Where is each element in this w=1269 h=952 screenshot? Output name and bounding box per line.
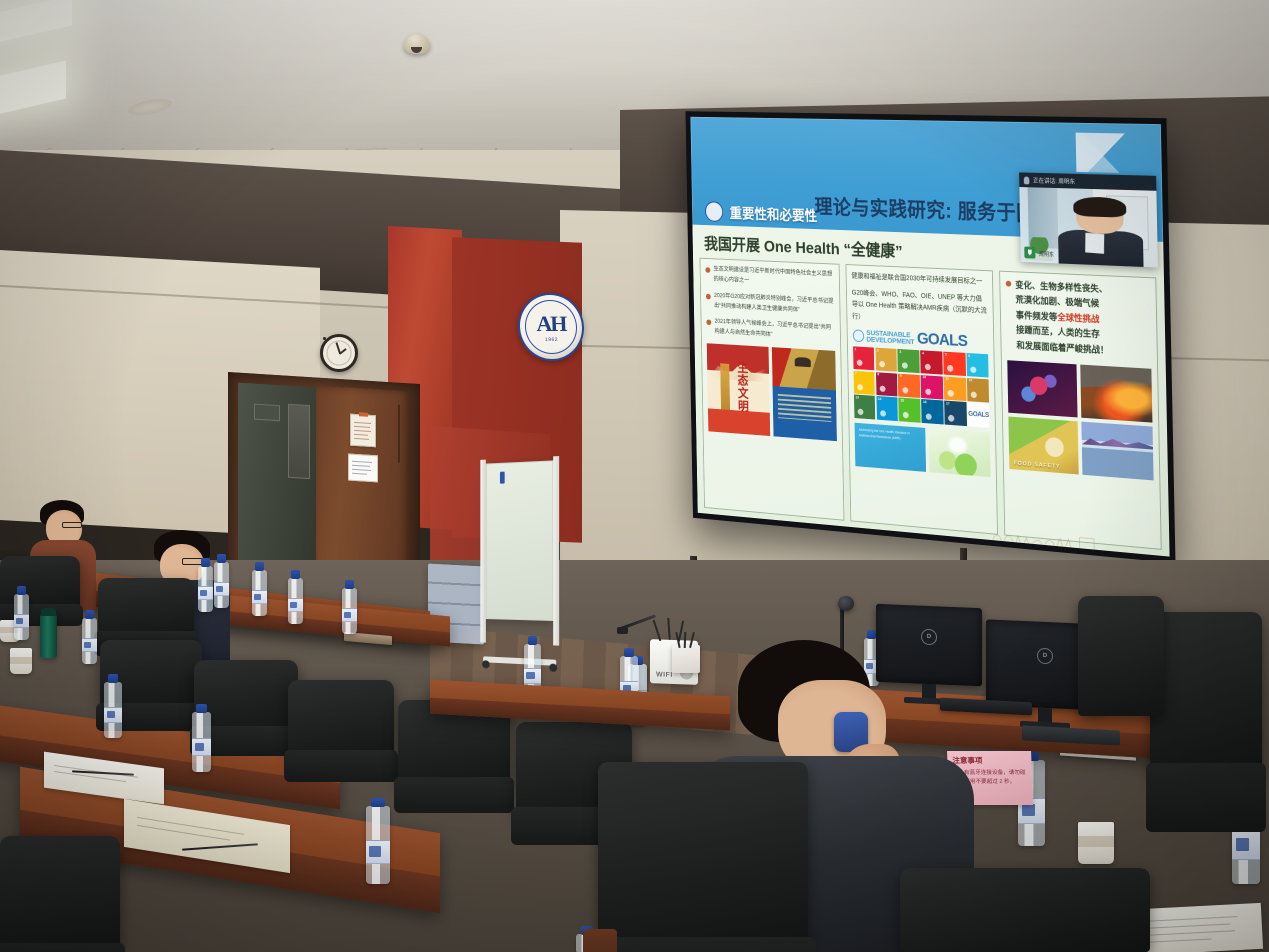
sdg-tile-number: 1 — [854, 347, 856, 351]
sdg-tile-10: 10 — [921, 375, 943, 400]
bullet-item: 生态文明建设是习近平新时代中国特色社会主义思想的核心内容之一 — [705, 264, 833, 290]
door-notice-white — [348, 454, 378, 483]
sdg-tile-1: 1 — [853, 346, 875, 370]
sdg-tile-8: 8 — [876, 372, 898, 397]
sdg-tile-number: 10 — [923, 376, 927, 380]
water-bottle — [366, 806, 390, 884]
document-sheet — [1139, 903, 1263, 952]
sdg-tile-number: 3 — [899, 350, 901, 354]
whiteboard-surface[interactable] — [486, 460, 553, 621]
bullet-item: 2021年领导人气候峰会上，习近平总书记提出“共同构建人与自然生命共同体” — [706, 317, 834, 344]
poster-caption-lines — [778, 394, 832, 426]
interior-sign — [254, 404, 280, 422]
sdg-tile-number: 12 — [969, 379, 973, 383]
sdg-tile-number: 7 — [855, 371, 857, 375]
sdg-tile-grid: 1234567891011121314151617GOALS — [853, 346, 990, 428]
slide-badge-icon — [705, 201, 723, 222]
bullet-text: 2021年领导人气候峰会上，习近平总书记提出“共同构建人与自然生命共同体” — [714, 317, 834, 344]
video-feed: 周明东 — [1019, 187, 1158, 268]
poster-photo — [772, 347, 836, 390]
chair[interactable] — [98, 578, 194, 636]
sdg-tile-7: 7 — [853, 370, 875, 394]
video-conference-overlay[interactable]: 周明东 正在讲话: 周明东 — [1019, 172, 1158, 267]
sdg-tile-11: 11 — [944, 376, 966, 401]
sdg-tile-number: 17 — [946, 402, 950, 406]
sdg-tile-9: 9 — [898, 373, 920, 398]
slide-corner-decoration — [1076, 133, 1147, 174]
door-notice-red — [350, 414, 376, 448]
poster-gold-band — [721, 364, 730, 411]
meeting-room-photo: AH 1962 — [0, 0, 1269, 952]
challenge-highlight: 全球性挑战 — [1057, 312, 1099, 324]
slide-subtitle: 我国开展 One Health “全健康” — [704, 230, 903, 261]
chair[interactable] — [288, 680, 394, 756]
video-mic-badge-icon — [1024, 246, 1035, 258]
amr-report-caption: Addressing the One Health Interface in A… — [859, 428, 922, 444]
clock-center-pin — [323, 337, 326, 340]
sdg-tile-6: 6 — [966, 353, 989, 378]
mobile-whiteboard[interactable] — [480, 460, 559, 660]
water-bottle — [198, 566, 213, 612]
whiteboard-wheel — [482, 660, 489, 668]
bullet-item: 变化、生物多样性丧失、 荒漠化加剧、极端气候 事件频发等全球性挑战 接踵而至，人… — [1006, 278, 1151, 361]
poster-eco-title: 生态文明 — [734, 361, 751, 414]
water-bottle — [104, 682, 122, 738]
sdg-tile-5: 5 — [943, 351, 965, 376]
sdg-tile-number: 16 — [923, 400, 927, 404]
sdg-logo-tile: GOALS — [967, 402, 990, 427]
sdg-paragraph: G20峰会、WHO、FAO、OIE、UNEP 等大力倡导以 One Health… — [852, 287, 988, 330]
sdg-tile-number: 2 — [877, 348, 879, 352]
wifi-label: WIFI — [656, 671, 673, 679]
sdg-mini-images: Addressing the One Health Interface in A… — [854, 423, 991, 477]
whiteboard-frame — [553, 456, 559, 646]
slide-chapter-label: 重要性和必要性 — [729, 202, 817, 224]
projection-screen[interactable]: 重要性和必要性 理论与实践研究: 服务于国 我国开展 One Health “全… — [685, 111, 1175, 563]
emblem-ring — [524, 300, 578, 354]
bullet-dot-icon — [706, 320, 711, 326]
sdg-tile-16: 16 — [921, 399, 943, 424]
sdg-logo-word: GOALS — [968, 411, 989, 419]
slide-body: 我国开展 One Health “全健康” 生态文明建设是习近平新时代中国特色社… — [692, 225, 1169, 557]
poster-leader-speech — [772, 347, 837, 441]
water-bottle — [252, 570, 267, 616]
whiteboard-wheel — [549, 663, 557, 672]
sdg-tile-number: 6 — [968, 354, 970, 358]
eyeglasses-icon — [62, 522, 82, 528]
bullet-dot-icon — [705, 267, 710, 273]
video-speaker-shirt — [1085, 232, 1105, 253]
sdg-tile-12: 12 — [967, 378, 990, 403]
sdg-word-goals: GOALS — [917, 331, 968, 349]
poster-figure — [794, 357, 811, 367]
sdg-tile-number: 13 — [855, 396, 859, 400]
slide-columns: 生态文明建设是习近平新时代中国特色社会主义思想的核心内容之一 2020年G20应… — [700, 258, 1162, 550]
chair[interactable] — [598, 762, 808, 952]
challenges-text: 变化、生物多样性丧失、 荒漠化加剧、极端气候 事件频发等全球性挑战 接踵而至，人… — [1015, 278, 1109, 359]
sdg-tile-number: 11 — [945, 377, 948, 381]
door-groove — [398, 405, 400, 463]
thermos-bottle — [40, 614, 57, 658]
video-speaker-name: 周明东 — [1039, 250, 1054, 258]
chair[interactable] — [900, 868, 1150, 952]
water-bottle — [14, 594, 29, 640]
paper-cup — [1078, 822, 1114, 864]
water-bottle — [82, 618, 97, 664]
sdg-tile-number: 14 — [878, 397, 882, 401]
bullet-dot-icon — [706, 293, 711, 299]
sdg-tile-number: 9 — [900, 374, 902, 378]
bullet-text: 2020年G20应对新冠肺炎特别峰会，习近平总书记提出“共同推动构建人类卫生健康… — [714, 291, 834, 317]
whiteboard-frame — [480, 460, 486, 643]
amr-report-thumbnail: Addressing the One Health Interface in A… — [854, 423, 926, 472]
sdg-tile-13: 13 — [854, 395, 876, 420]
sdg-tile-3: 3 — [898, 349, 920, 374]
slide-column-challenges: 变化、生物多样性丧失、 荒漠化加剧、极端气候 事件频发等全球性挑战 接踵而至，人… — [999, 271, 1161, 550]
video-status-label: 正在讲话: 周明东 — [1033, 176, 1075, 186]
paper-cup — [10, 648, 32, 674]
wildfire-image — [1080, 365, 1152, 423]
sdg-tile-4: 4 — [920, 350, 942, 375]
bullet-text: 生态文明建设是习近平新时代中国特色社会主义思想的核心内容之一 — [713, 265, 833, 291]
bullet-item: 2020年G20应对新冠肺炎特别峰会，习近平总书记提出“共同推动构建人类卫生健康… — [706, 291, 834, 318]
microphone-icon — [1024, 176, 1030, 184]
sdg-word-development: DEVELOPMENT — [866, 336, 914, 346]
challenge-line: 事件频发等 — [1016, 310, 1058, 322]
sdg-tile-number: 4 — [922, 351, 924, 355]
food-safety-image: FOOD SAFETY — [1009, 417, 1079, 475]
melting-ice-image — [1082, 422, 1154, 481]
wall-clock — [320, 334, 358, 372]
chair[interactable] — [1150, 612, 1262, 776]
sdg-tile-number: 15 — [900, 399, 904, 403]
slide-chapter-bar: 重要性和必要性 — [705, 201, 818, 225]
sdg-tile-14: 14 — [876, 396, 898, 421]
policy-posters: 生态文明 — [707, 343, 837, 441]
conference-camera-icon[interactable] — [838, 596, 854, 611]
sdg-paragraph: 健康和福祉是联合国2030年可持续发展目标之一 — [851, 271, 987, 289]
water-bottle — [214, 562, 229, 608]
sdg-tile-15: 15 — [899, 398, 921, 423]
slide-column-policy: 生态文明建设是习近平新时代中国特色社会主义思想的核心内容之一 2020年G20应… — [700, 258, 845, 521]
earth-graphic-thumbnail — [929, 428, 991, 477]
sdg-tile-number: 8 — [877, 373, 879, 377]
dell-logo-icon: D — [1037, 647, 1053, 664]
microphone-head-icon — [617, 627, 628, 634]
sdg-tile-number: 5 — [945, 352, 947, 356]
virus-image — [1008, 361, 1078, 418]
interior-notice-board — [288, 404, 310, 479]
water-bottle — [288, 578, 303, 624]
slide-surface: 重要性和必要性 理论与实践研究: 服务于国 我国开展 One Health “全… — [690, 117, 1169, 557]
chair[interactable] — [0, 556, 80, 608]
security-camera-icon — [404, 34, 430, 54]
sdg-block: SUSTAINABLE DEVELOPMENT GOALS 1234567891… — [852, 328, 989, 428]
water-bottle — [342, 588, 357, 634]
sdg-tile-17: 17 — [944, 401, 966, 426]
challenge-images: FOOD SAFETY — [1008, 361, 1154, 481]
chair[interactable] — [0, 836, 120, 952]
water-bottle — [192, 712, 211, 772]
bullet-dot-icon — [1006, 281, 1012, 287]
chair[interactable] — [1078, 596, 1164, 716]
un-logo-icon — [852, 329, 863, 342]
slide-column-sdg: 健康和福祉是联合国2030年可持续发展目标之一 G20峰会、WHO、FAO、OI… — [845, 264, 998, 535]
whiteboard-marker-icon[interactable] — [500, 472, 505, 484]
food-safety-caption: FOOD SAFETY — [1014, 461, 1061, 471]
poster-ecological-civilization: 生态文明 — [707, 343, 770, 436]
sdg-tile-2: 2 — [875, 347, 897, 371]
